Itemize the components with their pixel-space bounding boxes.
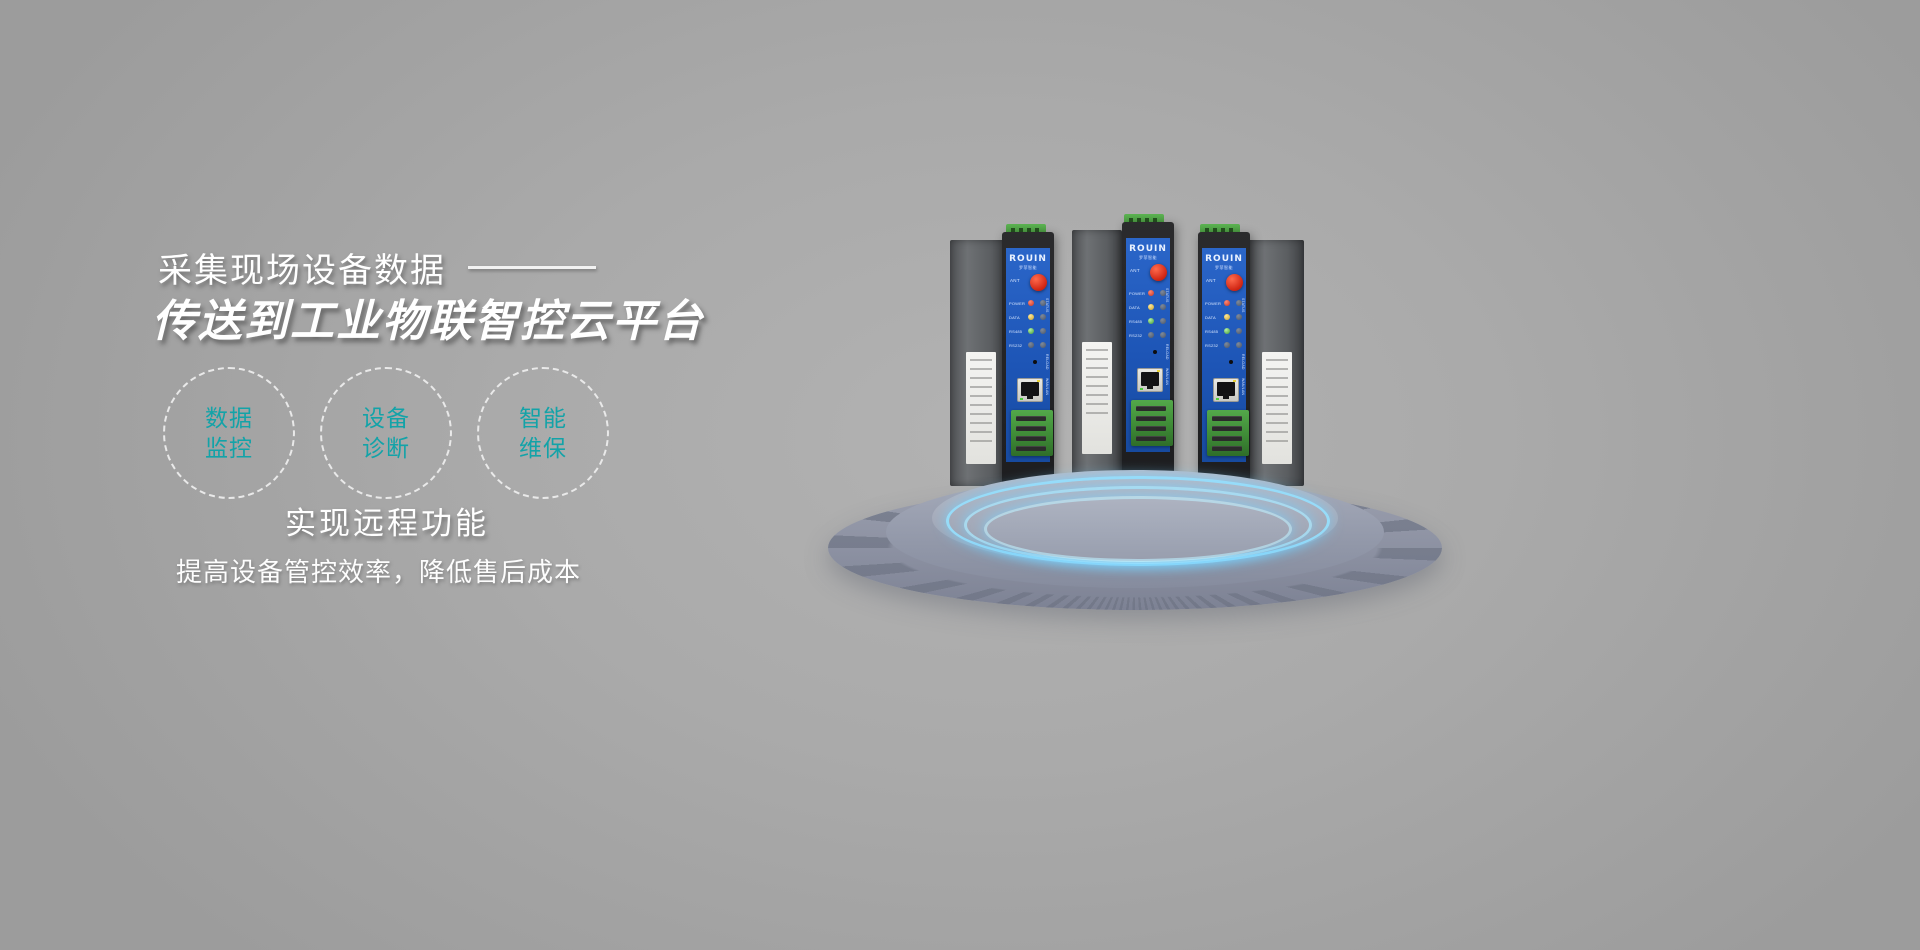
indicator-led (1224, 314, 1230, 320)
antenna-connector-icon (1226, 274, 1243, 291)
ethernet-port-label: WAN/LAN (1165, 368, 1169, 385)
device-group: ROUIN 罗菲智能 ANT POWER DATA (930, 200, 1330, 500)
indicator-row-data: DATA (1009, 314, 1051, 322)
brand-sub-logo: 罗菲智能 (1202, 265, 1246, 271)
device-blue-faceplate: ROUIN 罗菲智能 ANT POWER DATA (1006, 248, 1050, 462)
reset-button-icon[interactable] (1153, 350, 1157, 354)
indicator-led (1236, 342, 1242, 348)
status-side-label: STATUS (1165, 288, 1169, 303)
reset-label: RELOAD (1241, 354, 1245, 370)
indicator-row-rs485: RS485 (1009, 328, 1051, 336)
antenna-connector-icon (1150, 264, 1167, 281)
device-metal-housing (1072, 230, 1122, 476)
reset-button-icon[interactable] (1033, 360, 1037, 364)
device-spec-label (1082, 342, 1112, 454)
device-blue-faceplate: ROUIN 罗菲智能 ANT POWER DATA (1126, 238, 1170, 452)
device-blue-faceplate: ROUIN 罗菲智能 ANT POWER DATA (1202, 248, 1246, 462)
antenna-port-label: ANT (1010, 278, 1020, 283)
pedestal-glow-ring-3 (984, 496, 1292, 562)
indicator-led (1236, 328, 1242, 334)
device-spec-label (966, 352, 996, 464)
indicator-led (1236, 314, 1242, 320)
antenna-connector-icon (1030, 274, 1047, 291)
indicator-row-rs232: RS232 (1205, 342, 1247, 350)
banner-headline: 传送到工业物联智控云平台 (152, 285, 704, 349)
device-front-panel: ROUIN 罗菲智能 ANT POWER DATA (1122, 222, 1174, 480)
status-side-label: STATUS (1241, 298, 1245, 313)
indicator-led (1148, 318, 1154, 324)
ethernet-port-label: WAN/LAN (1241, 378, 1245, 395)
antenna-port-label: ANT (1206, 278, 1216, 283)
feature-circle-line2: 诊断 (362, 433, 410, 463)
indicator-led (1040, 314, 1046, 320)
indicator-led (1224, 328, 1230, 334)
indicator-led (1148, 304, 1154, 310)
product-scene: ROUIN 罗菲智能 ANT POWER DATA (790, 200, 1510, 640)
indicator-led (1160, 332, 1166, 338)
indicator-label: POWER (1129, 291, 1145, 296)
feature-circle-device-diagnosis[interactable]: 设备 诊断 (320, 367, 452, 499)
feature-circle-line1: 智能 (519, 403, 567, 433)
reset-label: RELOAD (1165, 344, 1169, 360)
ethernet-rj45-port-icon[interactable] (1213, 378, 1239, 402)
indicator-row-data: DATA (1129, 304, 1171, 312)
indicator-label: POWER (1205, 301, 1221, 306)
banner-subhead: 实现远程功能 (285, 498, 489, 543)
indicator-label: DATA (1205, 315, 1216, 320)
indicator-label: DATA (1009, 315, 1020, 320)
indicator-label: RS232 (1129, 333, 1142, 338)
banner-tagline: 提高设备管控效率，降低售后成本 (176, 552, 581, 589)
antenna-port-label: ANT (1130, 268, 1140, 273)
indicator-label: DATA (1129, 305, 1140, 310)
brand-logo: ROUIN (1202, 254, 1246, 264)
product-pedestal (828, 468, 1442, 610)
indicator-led (1148, 290, 1154, 296)
reset-label: RELOAD (1045, 354, 1049, 370)
indicator-led (1028, 328, 1034, 334)
indicator-led (1224, 342, 1230, 348)
ethernet-rj45-port-icon[interactable] (1137, 368, 1163, 392)
feature-circle-line2: 维保 (519, 433, 567, 463)
indicator-led (1160, 318, 1166, 324)
feature-circle-line1: 数据 (205, 403, 253, 433)
indicator-label: RS485 (1009, 329, 1022, 334)
bottom-terminal-block (1131, 400, 1173, 446)
indicator-label: RS232 (1205, 343, 1218, 348)
indicator-row-data: DATA (1205, 314, 1247, 322)
feature-circle-smart-maintenance[interactable]: 智能 维保 (477, 367, 609, 499)
indicator-label: RS485 (1205, 329, 1218, 334)
indicator-led (1028, 314, 1034, 320)
bottom-terminal-block (1011, 410, 1053, 456)
feature-circle-group: 数据 监控 设备 诊断 智能 维保 (163, 367, 609, 499)
indicator-row-rs485: RS485 (1129, 318, 1171, 326)
indicator-label: POWER (1009, 301, 1025, 306)
bottom-terminal-block (1207, 410, 1249, 456)
indicator-led (1040, 328, 1046, 334)
brand-sub-logo: 罗菲智能 (1126, 255, 1170, 261)
indicator-led (1028, 342, 1034, 348)
device-spec-label (1262, 352, 1292, 464)
device-front-panel: ROUIN 罗菲智能 ANT POWER DATA (1198, 232, 1250, 490)
brand-logo: ROUIN (1126, 244, 1170, 254)
indicator-led (1148, 332, 1154, 338)
brand-sub-logo: 罗菲智能 (1006, 265, 1050, 271)
indicator-led (1028, 300, 1034, 306)
ethernet-rj45-port-icon[interactable] (1017, 378, 1043, 402)
indicator-row-rs232: RS232 (1129, 332, 1171, 340)
brand-logo: ROUIN (1006, 254, 1050, 264)
indicator-row-rs485: RS485 (1205, 328, 1247, 336)
feature-circle-data-monitoring[interactable]: 数据 监控 (163, 367, 295, 499)
indicator-led (1160, 304, 1166, 310)
banner-copy-block: 采集现场设备数据 传送到工业物联智控云平台 数据 监控 设备 诊断 智能 维保 … (0, 0, 760, 950)
indicator-led (1224, 300, 1230, 306)
feature-circle-line1: 设备 (362, 403, 410, 433)
device-front-panel: ROUIN 罗菲智能 ANT POWER DATA (1002, 232, 1054, 490)
status-side-label: STATUS (1045, 298, 1049, 313)
feature-circle-line2: 监控 (205, 433, 253, 463)
device-metal-housing (1248, 240, 1304, 486)
ethernet-port-label: WAN/LAN (1045, 378, 1049, 395)
indicator-label: RS232 (1009, 343, 1022, 348)
reset-button-icon[interactable] (1229, 360, 1233, 364)
device-metal-housing (950, 240, 1008, 486)
indicator-led (1040, 342, 1046, 348)
kicker-rule-divider (468, 266, 596, 269)
indicator-row-rs232: RS232 (1009, 342, 1051, 350)
indicator-label: RS485 (1129, 319, 1142, 324)
